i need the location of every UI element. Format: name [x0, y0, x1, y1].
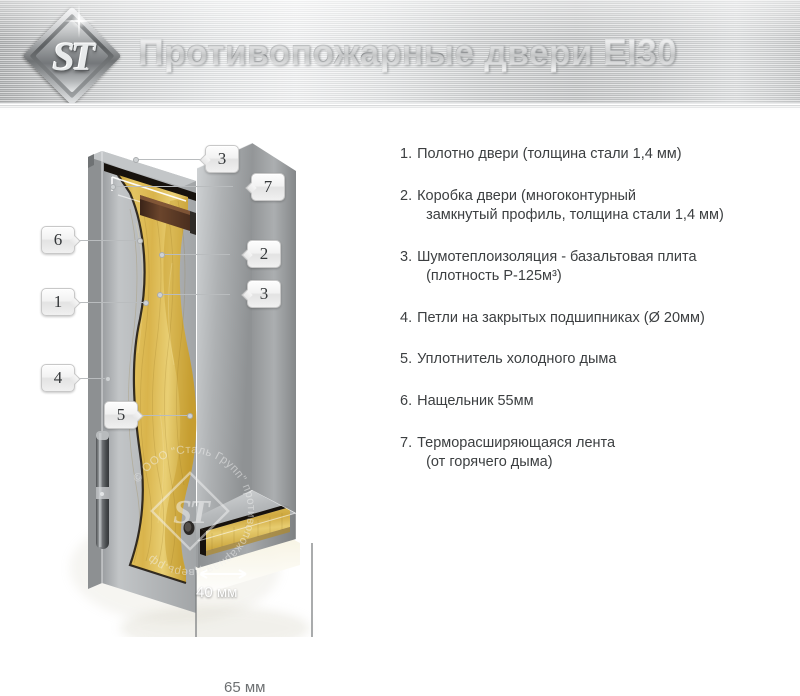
- leader-dot: [157, 292, 163, 298]
- callout-1[interactable]: 1: [41, 288, 75, 316]
- callout-number: 5: [117, 405, 126, 425]
- list-item-number: 4.: [400, 309, 412, 329]
- leader-line-6: [76, 240, 140, 241]
- steel-group-diamond-logo: ST: [28, 12, 116, 100]
- leader-line-3-mid: [160, 294, 230, 295]
- callout-3-mid[interactable]: 3: [247, 280, 281, 308]
- list-item-line2: (плотность Р-125м³): [417, 267, 790, 287]
- leader-dot: [159, 252, 165, 258]
- list-item: 6. Нащельник 55мм: [400, 392, 790, 412]
- list-item-text: Петли на закрытых подшипниках (Ø 20мм): [417, 309, 790, 329]
- list-item-line2: замкнутый профиль, толщина стали 1,4 мм): [417, 206, 790, 226]
- list-item-number: 5.: [400, 350, 412, 370]
- list-item: 3. Шумотеплоизоляция - базальтовая плита…: [400, 248, 790, 287]
- leader-dot: [133, 157, 139, 163]
- logo-sparkle-icon: [68, 10, 90, 32]
- callout-number: 3: [218, 149, 227, 169]
- list-item-text: Терморасширяющаяся лента (от горячего ды…: [417, 434, 790, 473]
- list-item-number: 2.: [400, 187, 412, 226]
- leader-dot: [143, 300, 149, 306]
- list-item: 1. Полотно двери (толщина стали 1,4 мм): [400, 145, 790, 165]
- list-item-line1: Коробка двери (многоконтурный: [417, 188, 636, 204]
- callout-number: 4: [54, 368, 63, 388]
- leader-line-1: [76, 302, 146, 303]
- dimension-label-40mm: 40 мм: [196, 584, 237, 601]
- leader-line-7: [113, 186, 233, 187]
- list-item-line1: Терморасширяющаяся лента: [417, 435, 615, 451]
- leader-dot: [137, 238, 143, 244]
- list-item-text: Шумотеплоизоляция - базальтовая плита (п…: [417, 248, 790, 287]
- list-item-line1: Уплотнитель холодного дыма: [417, 351, 616, 367]
- list-item: 7. Терморасширяющаяся лента (от горячего…: [400, 434, 790, 473]
- cold-smoke-seal: [184, 521, 195, 535]
- leader-dot: [110, 184, 116, 190]
- callout-number: 6: [54, 230, 63, 250]
- leader-dot: [187, 413, 193, 419]
- callout-5[interactable]: 5: [104, 401, 138, 429]
- list-item-line1: Полотно двери (толщина стали 1,4 мм): [417, 146, 682, 162]
- list-item-line1: Петли на закрытых подшипниках (Ø 20мм): [417, 310, 705, 326]
- callout-2[interactable]: 2: [247, 240, 281, 268]
- list-item-line2: (от горячего дыма): [417, 453, 790, 473]
- page-header: ST Противопожарные двери EI30: [0, 0, 800, 103]
- callout-4[interactable]: 4: [41, 364, 75, 392]
- door-hinge: [96, 431, 109, 549]
- list-item-text: Полотно двери (толщина стали 1,4 мм): [417, 145, 790, 165]
- callout-3-top[interactable]: 3: [205, 145, 239, 173]
- callout-number: 1: [54, 292, 63, 312]
- list-item-text: Нащельник 55мм: [417, 392, 790, 412]
- callout-number: 2: [260, 244, 269, 264]
- page-title: Противопожарные двери EI30: [138, 31, 677, 73]
- list-item-number: 3.: [400, 248, 412, 287]
- leader-line-2: [162, 254, 230, 255]
- list-item: 5. Уплотнитель холодного дыма: [400, 350, 790, 370]
- callout-number: 7: [264, 177, 273, 197]
- callout-number: 3: [260, 284, 269, 304]
- callout-6[interactable]: 6: [41, 226, 75, 254]
- specification-list: 1. Полотно двери (толщина стали 1,4 мм) …: [400, 145, 790, 495]
- dimension-label-65mm: 65 мм: [224, 679, 265, 696]
- list-item-text: Коробка двери (многоконтурный замкнутый …: [417, 187, 790, 226]
- list-item-line1: Нащельник 55мм: [417, 393, 533, 409]
- list-item-number: 6.: [400, 392, 412, 412]
- leader-dot: [105, 376, 111, 382]
- leader-line-5: [138, 415, 190, 416]
- list-item: 2. Коробка двери (многоконтурный замкнут…: [400, 187, 790, 226]
- list-item-line1: Шумотеплоизоляция - базальтовая плита: [417, 249, 696, 265]
- list-item-number: 7.: [400, 434, 412, 473]
- callout-7[interactable]: 7: [251, 173, 285, 201]
- list-item: 4. Петли на закрытых подшипниках (Ø 20мм…: [400, 309, 790, 329]
- list-item-number: 1.: [400, 145, 412, 165]
- list-item-text: Уплотнитель холодного дыма: [417, 350, 790, 370]
- header-divider: [0, 103, 800, 113]
- fire-door-cross-section: © ООО "Сталь Групп" противопожарная-двер…: [0, 113, 390, 637]
